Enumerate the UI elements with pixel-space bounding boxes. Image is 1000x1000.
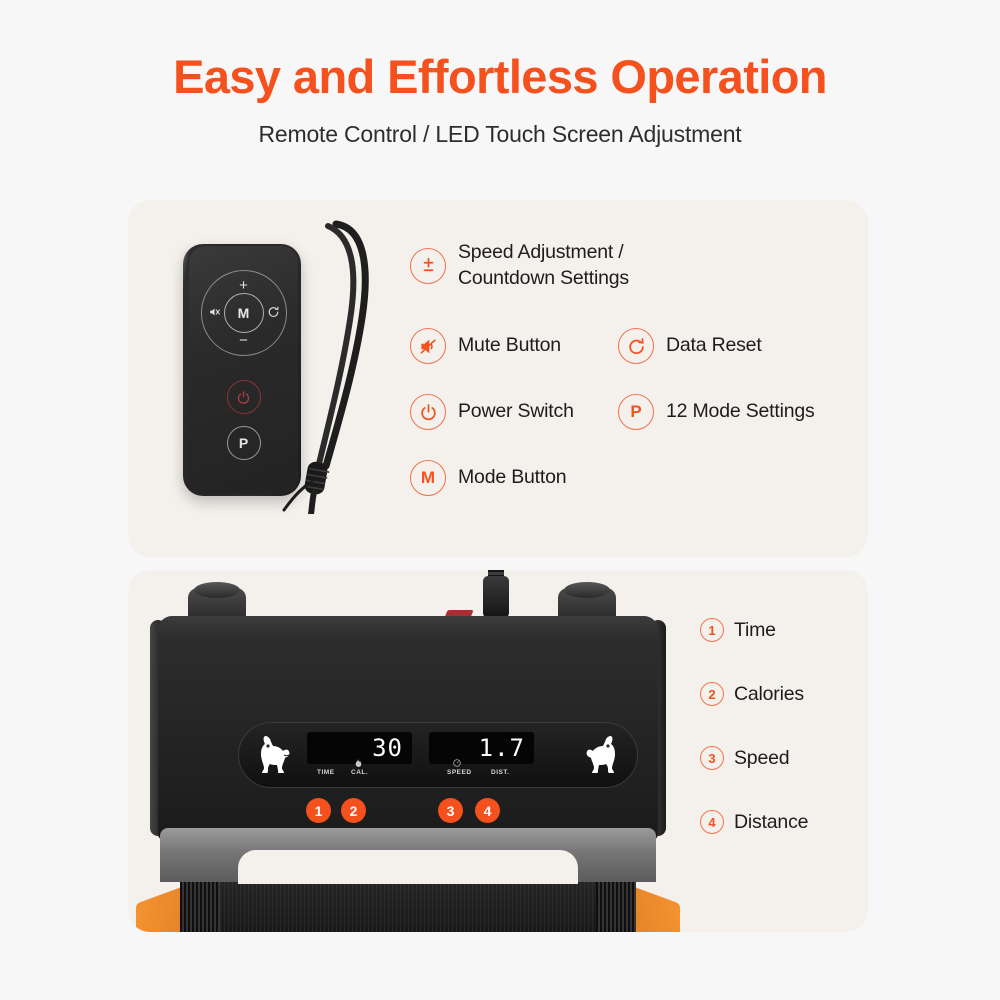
badge-4: 4	[700, 810, 724, 834]
page-subtitle: Remote Control / LED Touch Screen Adjust…	[0, 121, 1000, 148]
console-card: 30 1.7 TIME CAL. SPEED	[128, 570, 868, 932]
led-value-2: 1.7	[479, 734, 525, 762]
remote-power-button[interactable]	[227, 380, 261, 414]
remote-dpad-ring[interactable]: + − M	[201, 270, 287, 356]
remote-mode-button[interactable]: M	[224, 293, 264, 333]
badge-2: 2	[341, 798, 366, 823]
reset-icon[interactable]	[267, 306, 280, 321]
console-legend-label: Distance	[734, 811, 808, 834]
console-legend-item-distance: 4 Distance	[700, 810, 852, 834]
legend-label: Mute Button	[458, 333, 561, 359]
power-plug	[483, 576, 509, 618]
handle-cutout	[238, 850, 578, 884]
legend-label-line2: Countdown Settings	[458, 267, 629, 289]
legend-label: Power Switch	[458, 399, 574, 425]
led-value-1: 30	[372, 734, 403, 762]
led-label-dist: DIST.	[491, 769, 509, 776]
mute-icon[interactable]	[208, 306, 221, 321]
handle-bar	[160, 828, 656, 882]
badge-4: 4	[475, 798, 500, 823]
console-badges: 1 2 3 4	[238, 798, 638, 824]
console-legend-label: Speed	[734, 747, 789, 770]
console-legend: 1 Time 2 Calories 3 Speed 4 Distance	[700, 618, 852, 874]
badge-1: 1	[306, 798, 331, 823]
badge-1: 1	[700, 618, 724, 642]
console-legend-item-calories: 2 Calories	[700, 682, 852, 706]
led-window-speed-dist: 1.7	[429, 732, 534, 764]
console-legend-label: Time	[734, 619, 776, 642]
remote-face: + − M	[189, 246, 298, 494]
legend-item-power-switch: Power Switch	[410, 394, 574, 430]
console-legend-item-speed: 3 Speed	[700, 746, 852, 770]
treadmill-console-image: 30 1.7 TIME CAL. SPEED	[128, 570, 688, 932]
led-display-panel[interactable]: 30 1.7 TIME CAL. SPEED	[238, 722, 638, 788]
legend-label: Data Reset	[666, 333, 762, 359]
legend-item-data-reset: Data Reset	[618, 328, 762, 364]
legend-label-line1: Speed Adjustment /	[458, 241, 624, 263]
remote-preset-button[interactable]: P	[227, 426, 261, 460]
console-legend-item-time: 1 Time	[700, 618, 852, 642]
power-icon	[236, 390, 251, 405]
legend-item-mode-button: M Mode Button	[410, 460, 566, 496]
legend-item-speed-adjustment: Speed Adjustment / Countdown Settings	[410, 240, 629, 291]
dog-silhouette-icon	[257, 733, 297, 782]
header: Easy and Effortless Operation Remote Con…	[0, 0, 1000, 148]
legend-item-mute: Mute Button	[410, 328, 561, 364]
led-label-speed: SPEED	[447, 769, 472, 776]
power-icon	[410, 394, 446, 430]
reset-icon	[618, 328, 654, 364]
mute-icon	[410, 328, 446, 364]
badge-2: 2	[700, 682, 724, 706]
led-label-time: TIME	[317, 769, 335, 776]
dog-silhouette-icon	[579, 733, 619, 782]
p-letter-icon: P	[618, 394, 654, 430]
legend-label: Mode Button	[458, 465, 566, 491]
led-label-cal: CAL.	[351, 769, 368, 776]
remote-legend: Speed Adjustment / Countdown Settings Mu…	[410, 240, 850, 539]
badge-3: 3	[700, 746, 724, 770]
m-letter-icon: M	[410, 460, 446, 496]
legend-item-mode-settings: P 12 Mode Settings	[618, 394, 815, 430]
remote-image: + − M	[128, 200, 428, 557]
console-body: 30 1.7 TIME CAL. SPEED	[158, 616, 658, 840]
remote-control-card: + − M	[128, 200, 868, 557]
plus-minus-icon	[410, 248, 446, 284]
remote-plus-button[interactable]: +	[239, 278, 248, 293]
gauge-icon	[453, 759, 461, 769]
console-legend-label: Calories	[734, 683, 804, 706]
page-title: Easy and Effortless Operation	[0, 52, 1000, 101]
remote-minus-button[interactable]: −	[239, 333, 248, 348]
legend-label: Speed Adjustment / Countdown Settings	[458, 240, 629, 291]
legend-label: 12 Mode Settings	[666, 399, 815, 425]
badge-3: 3	[438, 798, 463, 823]
remote-body: + − M	[183, 244, 301, 496]
